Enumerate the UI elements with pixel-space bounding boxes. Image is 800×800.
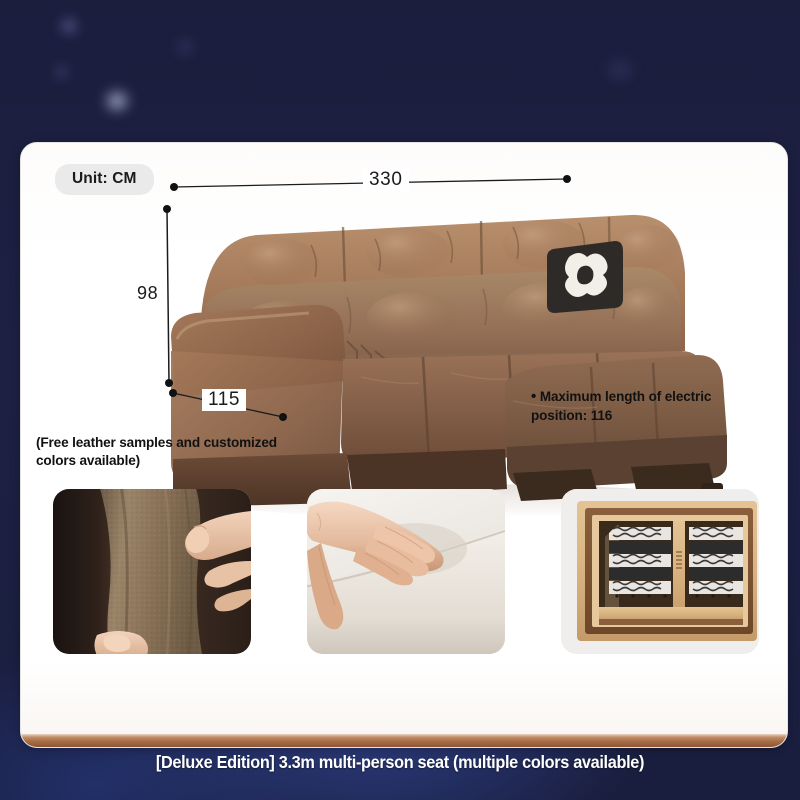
bokeh-light-icon (100, 90, 134, 112)
product-image-stage: Unit: CM (0, 0, 800, 800)
photo-spring-frame[interactable] (561, 489, 759, 654)
dimension-width-label: 330 (363, 169, 409, 191)
dimension-height-label: 98 (131, 283, 164, 304)
bokeh-light-icon (172, 40, 198, 54)
card-floor-strip (21, 734, 787, 747)
feature-photo-row (53, 489, 759, 657)
bokeh-light-icon (600, 60, 640, 80)
note-electric-position: • Maximum length of electric position: 1… (531, 387, 779, 425)
product-caption: [Deluxe Edition] 3.3m multi-person seat … (28, 752, 772, 773)
unit-badge: Unit: CM (55, 164, 154, 195)
bullet-icon: • (531, 388, 536, 405)
note-electric-line1: Maximum length of electric (540, 389, 711, 404)
bokeh-light-icon (52, 66, 70, 78)
photo-leather-texture[interactable] (53, 489, 251, 654)
photo-foam-density[interactable] (307, 489, 505, 654)
product-sofa-image (161, 201, 741, 531)
spec-card: Unit: CM (20, 142, 788, 748)
note-leather-line2: colors available) (36, 453, 140, 468)
note-leather-line1: (Free leather samples and customized (36, 435, 277, 450)
note-electric-line2: position: 116 (531, 408, 612, 423)
note-leather-samples: (Free leather samples and customized col… (36, 434, 366, 470)
bokeh-light-icon (58, 18, 80, 34)
